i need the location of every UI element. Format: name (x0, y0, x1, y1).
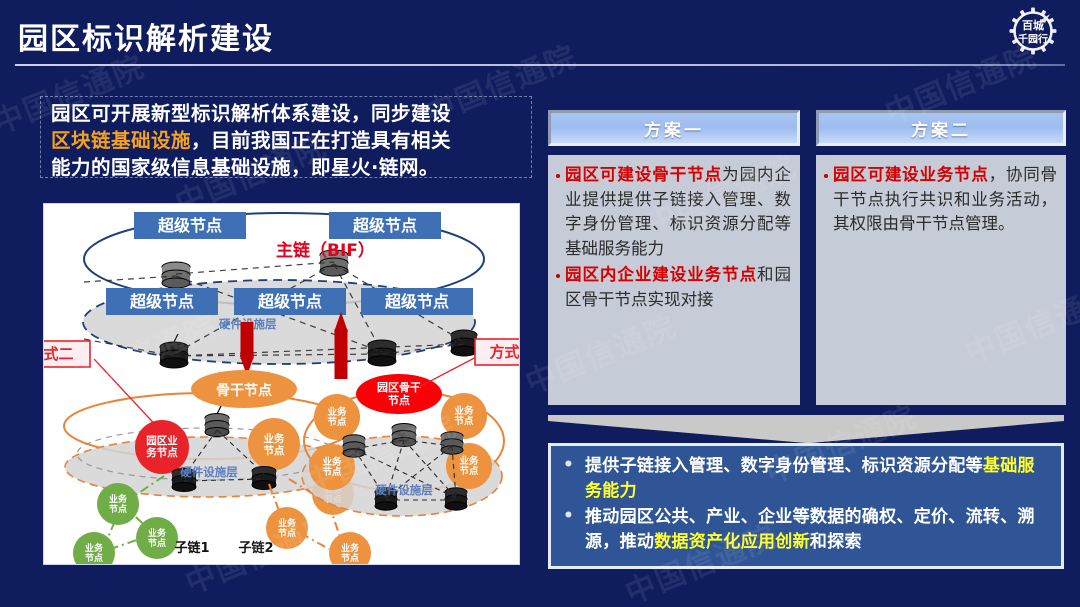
slide-root: 中国信通院 中国信通院 中国信通院 中国信通院 中国信通院 中国信通院 中国信通… (0, 0, 1080, 607)
chevron-down-icon (548, 415, 1064, 443)
scheme-panel-1: 方案一 园区可建设骨干节点为园内企业提供提供子链接入管理、数字身份管理、标识资源… (548, 110, 800, 405)
scheme-1-header: 方案一 (548, 110, 800, 146)
intro-line-3: 能力的国家级信息基础设施，即星火·链网。 (51, 154, 525, 181)
page-title: 园区标识解析建设 (18, 14, 274, 58)
logo-text-top: 百城 (1022, 18, 1044, 32)
summary-box: 提供子链接入管理、数字身份管理、标识资源分配等基础服务能力 推动园区公共、产业、… (548, 443, 1064, 569)
svg-text:节点: 节点 (388, 393, 410, 407)
super-node-3: 超级节点 (106, 288, 218, 315)
svg-text:园区骨干: 园区骨干 (377, 381, 421, 394)
intro-highlight: 区块链基础设施 (51, 129, 191, 152)
super-node-2: 超级节点 (329, 212, 441, 239)
scheme-2-bullet-1: 园区可建设业务节点，协同骨干节点执行共识和业务活动，其权限由骨干节点管理。 (823, 163, 1057, 237)
svg-text:方式二: 方式二 (44, 345, 74, 363)
super-node-4: 超级节点 (234, 288, 346, 315)
svg-text:方式一: 方式一 (489, 343, 519, 361)
svg-text:节点: 节点 (278, 527, 296, 539)
backbone-node-label: 骨干节点 (216, 382, 272, 399)
svg-text:节点: 节点 (341, 552, 359, 564)
svg-text:超级节点: 超级节点 (352, 216, 417, 235)
intro-line-2: 区块链基础设施，目前我国正在打造具有相关 (51, 127, 525, 154)
diagram-svg: 主链（BIF） 超级节点 超级节点 超级节点 超级节点 (44, 204, 519, 564)
svg-text:超级节点: 超级节点 (257, 292, 322, 311)
architecture-diagram: 主链（BIF） 超级节点 超级节点 超级节点 超级节点 (43, 203, 520, 565)
svg-text:节点: 节点 (85, 552, 103, 564)
svg-text:节点: 节点 (454, 415, 474, 427)
scheme-2-header: 方案二 (816, 110, 1066, 146)
svg-text:业务: 业务 (278, 517, 297, 529)
hardware-layer-label-right: 硬件设施层 (375, 483, 433, 497)
scheme-1-body: 园区可建设骨干节点为园内企业提供提供子链接入管理、数字身份管理、标识资源分配等基… (548, 155, 800, 405)
main-chain-label: 主链（BIF） (276, 240, 375, 261)
scheme-2-header-label: 方案二 (911, 116, 971, 141)
svg-text:业务: 业务 (264, 432, 285, 445)
svg-text:节点: 节点 (148, 537, 166, 549)
subchain2-label: 子链2 (238, 540, 273, 556)
svg-text:业务: 业务 (85, 542, 104, 554)
scheme-2-body: 园区可建设业务节点，协同骨干节点执行共识和业务活动，其权限由骨干节点管理。 (816, 155, 1066, 405)
intro-line-1: 园区可开展新型标识解析体系建设，同步建设 (51, 100, 525, 127)
scheme-1-bullet-1: 园区可建设骨干节点为园内企业提供提供子链接入管理、数字身份管理、标识资源分配等基… (555, 163, 791, 261)
intro-box: 园区可开展新型标识解析体系建设，同步建设 区块链基础设施，目前我国正在打造具有相… (40, 96, 532, 178)
svg-text:超级节点: 超级节点 (157, 216, 222, 235)
svg-text:节点: 节点 (327, 416, 347, 428)
scheme-1-bullet-2: 园区内企业建设业务节点和园区骨干节点实现对接 (555, 263, 791, 312)
super-node-5: 超级节点 (361, 288, 473, 315)
summary-item-1: 提供子链接入管理、数字身份管理、标识资源分配等基础服务能力 (559, 454, 1051, 504)
svg-text:超级节点: 超级节点 (384, 292, 449, 311)
svg-text:园区业: 园区业 (146, 434, 178, 447)
logo-text-bottom: 千园行 (1018, 33, 1048, 46)
svg-text:业务: 业务 (148, 527, 167, 539)
svg-text:节点: 节点 (459, 465, 479, 477)
svg-text:节点: 节点 (264, 444, 285, 457)
title-divider (15, 64, 1065, 66)
svg-text:节点: 节点 (322, 466, 342, 478)
subchain1-label: 子链1 (174, 540, 209, 556)
summary-item-2: 推动园区公共、产业、企业等数据的确权、定价、流转、溯源，推动数据资产化应用创新和… (559, 505, 1051, 555)
mode-two-callout: 方式二 (44, 341, 162, 432)
svg-text:业务: 业务 (341, 542, 360, 554)
super-node-1: 超级节点 (134, 212, 246, 239)
super-node-labels: 超级节点 超级节点 超级节点 超级节点 超级节点 (106, 212, 473, 315)
hardware-layer-label-left: 硬件设施层 (180, 465, 238, 479)
svg-text:务节点: 务节点 (146, 446, 178, 459)
baicheng-qianyuanxing-logo: 百城 千园行 (996, 6, 1070, 56)
svg-text:业务: 业务 (109, 493, 128, 505)
scheme-panel-2: 方案二 园区可建设业务节点，协同骨干节点执行共识和业务活动，其权限由骨干节点管理… (816, 110, 1066, 405)
scheme-1-header-label: 方案一 (644, 116, 704, 141)
svg-text:节点: 节点 (109, 503, 127, 515)
svg-text:超级节点: 超级节点 (129, 292, 194, 311)
